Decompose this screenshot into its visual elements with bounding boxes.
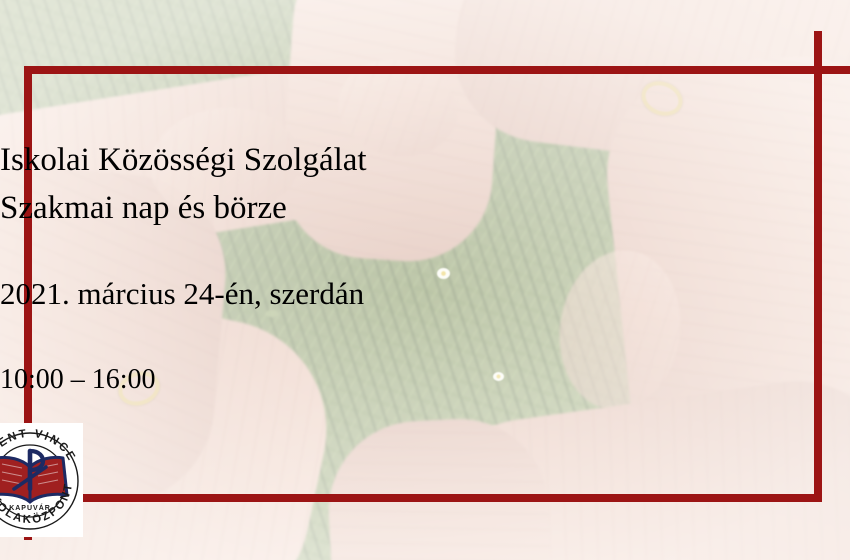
- frame-right-border: [814, 31, 822, 502]
- frame-bottom-border: [24, 494, 822, 502]
- school-logo: A Ω SZENT VINCE ISKOLAKÖZPONT KAPUVÁR: [0, 423, 83, 537]
- logo-center-text: KAPUVÁR: [9, 503, 51, 512]
- event-date: 2021. március 24-én, szerdán: [0, 273, 850, 315]
- headline-line-2: Szakmai nap és börze: [0, 186, 850, 230]
- logo-seal-svg: A Ω SZENT VINCE ISKOLAKÖZPONT KAPUVÁR: [0, 423, 83, 537]
- open-book-emblem: [0, 457, 67, 502]
- frame-top-border: [24, 66, 850, 74]
- logo-alpha-letter: A: [15, 475, 20, 483]
- poster-canvas: Iskolai Közösségi Szolgálat Szakmai nap …: [0, 0, 850, 560]
- headline-line-1: Iskolai Közösségi Szolgálat: [0, 138, 850, 182]
- event-time: 10:00 – 16:00: [0, 360, 850, 400]
- logo-omega-letter: Ω: [40, 475, 45, 483]
